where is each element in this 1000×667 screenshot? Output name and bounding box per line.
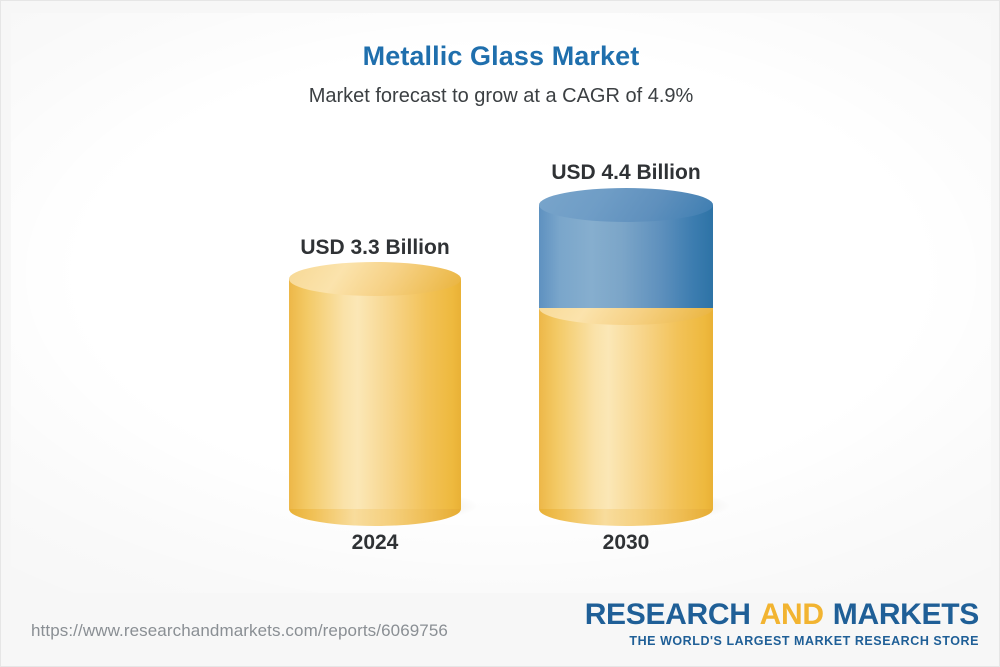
- bar-value-label-2030: USD 4.4 Billion: [539, 161, 713, 185]
- chart-subtitle: Market forecast to grow at a CAGR of 4.9…: [1, 83, 1000, 109]
- bar-2024: USD 3.3 Billion 2024: [289, 196, 461, 546]
- bar-cap-2024: [289, 262, 461, 296]
- bar-cap-2030-growth: [539, 188, 713, 222]
- bar-body-2030-base: [539, 308, 713, 509]
- title-block: Metallic Glass Market Market forecast to…: [1, 39, 1000, 109]
- bar-body-2024: [289, 279, 461, 509]
- research-and-markets-logo[interactable]: RESEARCHANDMARKETS THE WORLD'S LARGEST M…: [585, 599, 979, 649]
- logo-tagline: THE WORLD'S LARGEST MARKET RESEARCH STOR…: [585, 633, 979, 649]
- bar-segment-2030-growth: [539, 205, 713, 308]
- logo-word-research: RESEARCH: [585, 598, 751, 631]
- logo-word-and: AND: [760, 598, 824, 631]
- bar-2030: USD 4.4 Billion 2030: [539, 196, 713, 546]
- category-label-2024: 2024: [289, 531, 461, 555]
- page-title: Metallic Glass Market: [1, 39, 1000, 73]
- logo-word-markets: MARKETS: [833, 598, 979, 631]
- category-label-2030: 2030: [539, 531, 713, 555]
- chart-card: Metallic Glass Market Market forecast to…: [0, 0, 1000, 667]
- report-url[interactable]: https://www.researchandmarkets.com/repor…: [31, 621, 448, 641]
- logo-wordmark: RESEARCHANDMARKETS: [585, 599, 979, 631]
- bar-segment-2024-base: [289, 279, 461, 509]
- bar-segment-2030-base: [539, 308, 713, 509]
- bar-value-label-2024: USD 3.3 Billion: [289, 236, 461, 260]
